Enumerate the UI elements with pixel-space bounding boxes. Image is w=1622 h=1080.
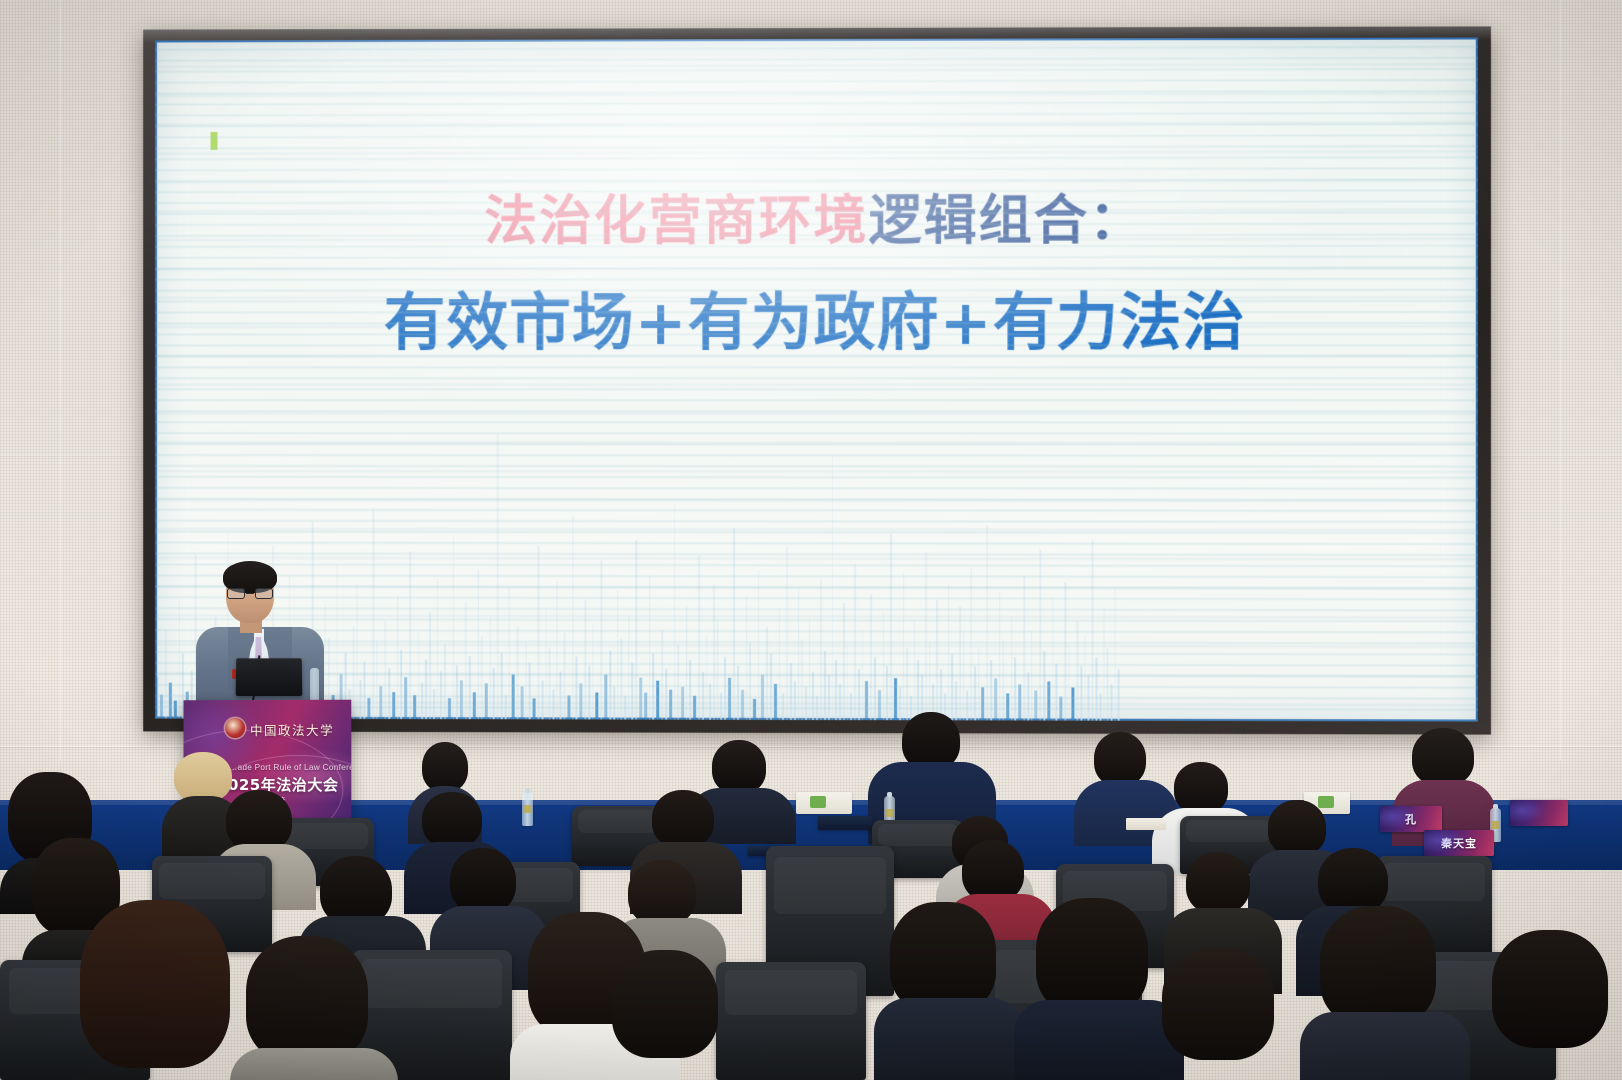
- slide-headline-highlight: 法治化营商环境: [484, 190, 868, 252]
- chart-bar: [936, 600, 938, 720]
- chart-bar: [1118, 670, 1120, 721]
- chart-bar: [549, 648, 550, 720]
- chart-bar: [433, 689, 435, 719]
- chart-bar: [1095, 658, 1097, 721]
- person-head: [1186, 852, 1250, 914]
- chart-bar: [717, 621, 718, 720]
- chart-bar: [770, 654, 772, 720]
- chart-bar: [746, 597, 747, 720]
- person-head: [246, 936, 368, 1062]
- chart-bar: [835, 660, 837, 720]
- chart-bar: [484, 683, 487, 719]
- university-name: 中国政法大学: [250, 720, 334, 739]
- chart-bar: [948, 585, 950, 720]
- person-head: [962, 840, 1024, 902]
- chart-bar: [413, 695, 416, 719]
- chart-bar: [425, 659, 427, 719]
- chart-bar: [504, 695, 506, 719]
- chart-bar: [843, 603, 845, 720]
- chart-bar: [1068, 645, 1070, 720]
- chart-bar: [883, 612, 885, 720]
- chart-bar: [477, 570, 478, 720]
- chart-bar: [999, 591, 1001, 720]
- person-head: [1036, 898, 1148, 1014]
- chart-bar: [559, 672, 561, 720]
- chart-bar: [951, 654, 953, 720]
- audience-person: [1144, 948, 1304, 1080]
- chart-bar: [556, 582, 557, 720]
- chart-bar: [870, 594, 872, 720]
- tissue-box: [796, 792, 852, 814]
- chart-bar: [508, 588, 509, 720]
- chart-bar: [572, 516, 573, 720]
- podium-laptop: [236, 658, 303, 696]
- chart-bar: [635, 540, 636, 720]
- chart-bar: [456, 665, 458, 719]
- chart-bar: [1052, 597, 1054, 720]
- chart-bar: [854, 564, 856, 720]
- chart-bar: [1039, 549, 1041, 720]
- person-torso: [230, 1048, 398, 1080]
- chart-bar: [440, 671, 442, 719]
- chart-bar: [444, 644, 445, 719]
- chart-bar: [831, 456, 833, 720]
- person-head: [1492, 930, 1608, 1048]
- chart-bar: [665, 669, 667, 720]
- person-head: [1094, 732, 1146, 786]
- chart-bar: [631, 663, 633, 720]
- chart-bar: [497, 435, 498, 719]
- chart-bar: [500, 653, 502, 719]
- chart-bar: [452, 537, 453, 720]
- chart-bar: [689, 660, 691, 720]
- person-head: [612, 950, 718, 1058]
- chart-bar: [460, 680, 463, 719]
- document-papers: [1126, 818, 1166, 830]
- chart-bar: [604, 675, 607, 720]
- chart-bar: [959, 606, 961, 720]
- chart-bar: [178, 599, 179, 718]
- chart-bar: [372, 510, 373, 719]
- chart-bar: [1099, 694, 1101, 721]
- chart-bar: [1087, 676, 1089, 721]
- chart-bar: [429, 611, 430, 719]
- person-head: [80, 900, 230, 1068]
- audience-person: [230, 936, 398, 1080]
- chart-bar: [681, 687, 684, 720]
- chart-bar: [929, 642, 931, 720]
- screen-green-marker: [211, 132, 218, 150]
- chart-bar: [1014, 657, 1016, 720]
- chart-bar: [1114, 588, 1116, 720]
- chart-bar: [766, 627, 767, 720]
- chart-bar: [363, 662, 365, 719]
- chart-bar: [674, 504, 675, 720]
- podium-water-bottle: [310, 668, 319, 702]
- chart-bar: [1110, 685, 1112, 721]
- chart-bar: [858, 669, 860, 720]
- chart-bar: [575, 657, 577, 720]
- chart-bar: [925, 552, 927, 720]
- chart-bar: [397, 596, 398, 719]
- chart-bar: [698, 555, 699, 720]
- chart-bar: [168, 683, 171, 719]
- chart-bar: [595, 693, 598, 720]
- chart-bar: [541, 680, 543, 719]
- chart-bar: [652, 654, 654, 720]
- name-placard: 秦天宝: [1424, 830, 1494, 856]
- chart-bar: [517, 627, 518, 720]
- chart-bar: [724, 657, 726, 720]
- chart-bar: [1011, 615, 1013, 720]
- chart-bar: [782, 693, 784, 720]
- chart-bar: [1076, 621, 1078, 720]
- chart-bar: [545, 609, 546, 720]
- chart-bar: [584, 600, 585, 720]
- chart-bar: [468, 656, 470, 719]
- chart-bar: [794, 681, 796, 720]
- audience-person: [1300, 906, 1470, 1080]
- chart-bar: [588, 666, 590, 720]
- chart-bar: [409, 552, 410, 720]
- chart-bar: [552, 689, 554, 719]
- chart-bar: [359, 680, 361, 719]
- chart-bar: [1064, 582, 1066, 720]
- chart-bar: [1031, 630, 1033, 720]
- chart-bar: [801, 639, 802, 720]
- chart-bar: [613, 687, 615, 720]
- chart-bar: [481, 635, 482, 719]
- chart-bar: [421, 683, 423, 719]
- chart-bar: [165, 629, 166, 719]
- audience-person: [1472, 930, 1622, 1080]
- chart-bar: [970, 567, 972, 720]
- chart-bar: [786, 546, 787, 720]
- chart-bar: [336, 563, 337, 719]
- chart-bar: [1006, 693, 1009, 720]
- chart-bar: [529, 662, 531, 719]
- chart-bar: [798, 588, 799, 720]
- chart-bar: [173, 701, 176, 719]
- slide-decorative-bar-chart: [155, 420, 1478, 722]
- chart-bar: [709, 684, 711, 720]
- chart-bar: [356, 584, 357, 719]
- person-head: [890, 902, 996, 1012]
- conference-title-en: …ade Port Rule of Law Conference: [229, 763, 351, 772]
- chart-bar: [1002, 639, 1004, 720]
- chart-bar: [903, 573, 905, 720]
- chart-bar: [620, 639, 621, 720]
- chart-bar: [1103, 606, 1105, 720]
- chart-bar: [774, 684, 777, 720]
- chart-bar: [963, 633, 965, 720]
- chart-bar: [749, 642, 750, 720]
- chart-bar: [1018, 684, 1021, 720]
- person-head: [712, 740, 766, 794]
- name-placard: [1510, 800, 1568, 826]
- chart-bar: [579, 684, 582, 720]
- person-head: [1174, 762, 1228, 814]
- chart-bar: [978, 648, 980, 720]
- tablet-device: [818, 816, 872, 830]
- chart-bar: [1080, 667, 1082, 721]
- chart-bar: [520, 686, 523, 719]
- glasses-icon: [227, 588, 273, 599]
- chart-bar: [656, 681, 659, 720]
- chart-bar: [986, 525, 988, 720]
- chart-bar: [392, 692, 395, 719]
- chart-bar: [493, 668, 495, 719]
- chart-bar: [489, 617, 490, 719]
- chart-bar: [353, 626, 354, 719]
- chart-bar: [437, 578, 438, 719]
- person-head: [652, 790, 714, 848]
- chart-bar: [906, 648, 908, 720]
- chart-bar: [1084, 636, 1086, 720]
- chart-bar: [447, 698, 450, 719]
- person-head: [226, 790, 292, 852]
- chart-bar: [1091, 540, 1093, 720]
- chart-bar: [418, 632, 419, 719]
- chart-bar: [1023, 576, 1025, 720]
- chart-bar: [628, 615, 629, 720]
- chart-bar: [812, 672, 814, 720]
- chart-bar: [538, 546, 539, 720]
- person-head: [1318, 848, 1388, 914]
- wall-seam-vertical: [1560, 0, 1561, 760]
- audience-person: [596, 950, 746, 1080]
- chart-bar: [914, 621, 916, 720]
- chart-bar: [816, 696, 818, 720]
- chart-bar: [512, 674, 515, 719]
- chart-bar: [805, 687, 807, 720]
- chart-bar: [890, 534, 892, 720]
- chart-bar: [850, 693, 852, 720]
- chart-bar: [639, 678, 642, 720]
- chart-bar: [820, 579, 821, 720]
- chart-bar: [661, 630, 662, 720]
- chart-bar: [713, 585, 714, 720]
- chart-bar: [761, 675, 764, 720]
- chart-bar: [388, 668, 390, 719]
- slide-headline-rest: 逻辑组合：: [869, 190, 1145, 252]
- chart-bar: [677, 645, 678, 720]
- chart-bar: [400, 650, 402, 719]
- chart-bar: [1047, 681, 1050, 720]
- chart-bar: [706, 636, 707, 720]
- chart-bar: [592, 624, 593, 720]
- person-head: [1320, 906, 1436, 1026]
- chart-bar: [617, 591, 618, 720]
- chart-bar: [720, 693, 722, 720]
- chart-bar: [404, 677, 407, 719]
- water-bottle: [522, 792, 533, 826]
- audience-person: [874, 902, 1024, 1080]
- chart-bar: [702, 672, 704, 720]
- chart-bar: [533, 698, 536, 719]
- chart-bar: [1027, 672, 1029, 720]
- chart-bar: [753, 699, 756, 720]
- chart-bar: [779, 609, 780, 720]
- chart-bar: [525, 641, 526, 719]
- person-head: [1412, 728, 1474, 786]
- chart-bar: [1071, 688, 1074, 721]
- chart-bar: [600, 561, 601, 720]
- person-torso: [1300, 1012, 1470, 1080]
- chart-bar: [823, 651, 825, 720]
- chart-bar: [465, 602, 466, 719]
- chart-bar: [376, 641, 377, 719]
- chart-bar: [472, 692, 475, 719]
- chart-bar: [649, 576, 650, 720]
- chart-bar: [1034, 690, 1037, 720]
- chart-bar: [737, 666, 739, 720]
- chart-bar: [741, 690, 744, 720]
- led-screen: 法治化营商环境逻辑组合： 有效市场+有为政府+有力法治: [155, 37, 1478, 721]
- chart-bar: [563, 633, 564, 720]
- chart-bar: [728, 678, 731, 720]
- person-head: [422, 742, 468, 792]
- audience-person: [66, 900, 252, 1080]
- chart-bar: [1059, 697, 1062, 721]
- chart-bar: [367, 698, 370, 719]
- chart-bar: [1055, 663, 1057, 720]
- chart-bar: [758, 570, 759, 720]
- chart-bar: [827, 675, 829, 720]
- chart-bar: [809, 618, 810, 720]
- name-placard: 孔: [1380, 806, 1442, 832]
- chart-bar: [644, 693, 647, 720]
- person-head: [422, 792, 482, 848]
- chart-bar: [1043, 651, 1045, 720]
- slide-content: 法治化营商环境逻辑组合： 有效市场+有为政府+有力法治: [155, 188, 1478, 362]
- wall-seam-vertical: [60, 0, 61, 760]
- chart-bar: [379, 686, 382, 719]
- chart-bar: [567, 695, 570, 719]
- slide-formula: 有效市场+有为政府+有力法治: [155, 284, 1478, 361]
- university-emblem-icon: [225, 718, 245, 738]
- chart-bar: [686, 606, 687, 720]
- chart-bar: [862, 630, 864, 720]
- chart-bar: [624, 696, 626, 720]
- conference-hall-photo: 法治化营商环境逻辑组合： 有效市场+有为政府+有力法治 中国政法大学 …ad: [0, 0, 1622, 1080]
- chart-bar: [160, 695, 163, 719]
- chart-bar: [790, 663, 792, 720]
- person-head: [1162, 948, 1274, 1060]
- chart-bar: [733, 528, 734, 720]
- chart-bar: [155, 677, 158, 719]
- chart-bar: [847, 645, 849, 720]
- slide-headline: 法治化营商环境逻辑组合：: [155, 188, 1478, 255]
- chart-bar: [384, 620, 385, 719]
- led-screen-bezel: 法治化营商环境逻辑组合： 有效市场+有为政府+有力法治: [143, 26, 1491, 734]
- chart-bar: [609, 651, 611, 720]
- chart-bar: [1107, 649, 1109, 721]
- chart-bar: [669, 690, 672, 720]
- chart-bar: [839, 684, 841, 720]
- person-head: [450, 848, 516, 914]
- person-torso: [874, 998, 1024, 1080]
- chart-bar: [874, 657, 876, 720]
- chart-bar: [693, 696, 696, 720]
